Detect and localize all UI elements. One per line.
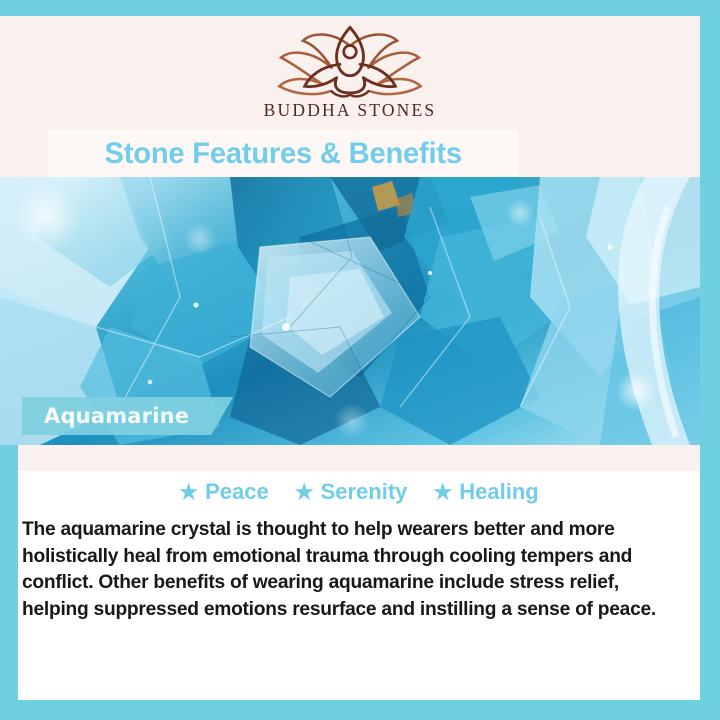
star-icon: ★: [179, 482, 198, 503]
header: BUDDHA STONES Stone Features & Benefits: [0, 16, 700, 177]
poster-root: BUDDHA STONES Stone Features & Benefits: [0, 0, 720, 720]
benefit-item-serenity: ★ Serenity: [295, 479, 408, 505]
benefit-label: Serenity: [321, 479, 408, 505]
stone-name-tag: Aquamarine: [22, 397, 233, 435]
hero-image: Aquamarine: [0, 177, 700, 445]
star-icon: ★: [433, 482, 452, 503]
benefit-label: Peace: [205, 479, 269, 505]
brand-name: BUDDHA STONES: [264, 100, 437, 121]
star-icon: ★: [295, 482, 314, 503]
frame-band-top: [0, 0, 720, 16]
benefit-item-peace: ★ Peace: [179, 479, 268, 505]
frame-band-right: [700, 0, 720, 700]
stone-description: The aquamarine crystal is thought to hel…: [22, 517, 682, 623]
hero-cream-strip: [0, 445, 700, 471]
benefits-row: ★ Peace ★ Serenity ★ Healing: [18, 471, 700, 505]
frame-band-left: [0, 445, 18, 720]
benefit-item-healing: ★ Healing: [433, 479, 538, 505]
benefit-label: Healing: [459, 479, 538, 505]
frame-band-bottom: [0, 700, 720, 720]
lotus-meditation-figure-icon: [265, 24, 435, 98]
title-ribbon: Stone Features & Benefits: [48, 130, 518, 177]
brand-logo: BUDDHA STONES: [0, 24, 700, 132]
stone-name-label: Aquamarine: [44, 404, 189, 428]
page-surface: BUDDHA STONES Stone Features & Benefits: [0, 16, 700, 700]
page-title: Stone Features & Benefits: [104, 137, 461, 171]
content-panel: ★ Peace ★ Serenity ★ Healing The aquamar…: [18, 471, 700, 700]
